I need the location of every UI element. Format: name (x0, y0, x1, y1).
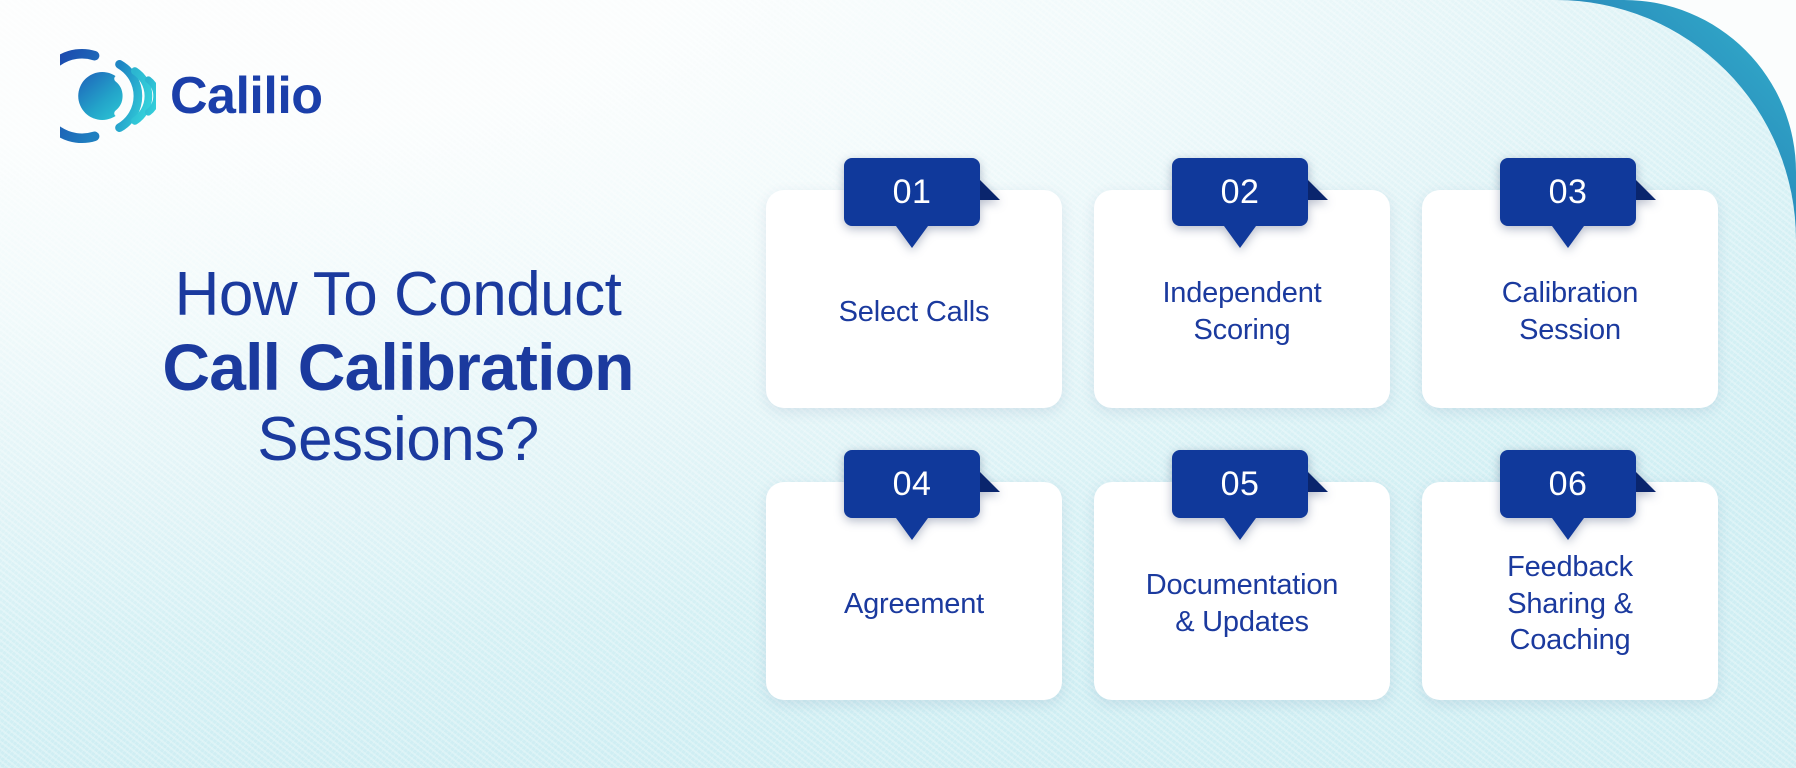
step-card-4[interactable]: Agreement 04 (766, 450, 1062, 668)
step-number-badge: 03 (1500, 158, 1656, 254)
step-card-3[interactable]: Calibration Session 03 (1422, 158, 1718, 376)
step-number: 03 (1500, 158, 1636, 226)
title-line-3: Sessions? (78, 407, 718, 473)
steps-grid: Select Calls 01 Independent Scoring 02 (766, 158, 1726, 668)
step-number: 01 (844, 158, 980, 226)
title-line-2: Call Calibration (78, 332, 718, 403)
step-number-badge: 05 (1172, 450, 1328, 546)
step-card-6[interactable]: Feedback Sharing & Coaching 06 (1422, 450, 1718, 668)
step-label: Feedback Sharing & Coaching (1507, 549, 1633, 659)
brand-wordmark: Calilio (170, 70, 323, 122)
page-title: How To Conduct Call Calibration Sessions… (78, 262, 718, 473)
step-number-badge: 01 (844, 158, 1000, 254)
step-number-badge: 06 (1500, 450, 1656, 546)
step-number: 06 (1500, 450, 1636, 518)
step-label: Select Calls (839, 294, 990, 331)
step-label: Documentation & Updates (1146, 567, 1338, 641)
step-label: Independent Scoring (1162, 275, 1321, 349)
step-number: 05 (1172, 450, 1308, 518)
step-label: Calibration Session (1502, 275, 1638, 349)
title-line-1: How To Conduct (78, 262, 718, 328)
step-label: Agreement (844, 586, 984, 623)
step-card-1[interactable]: Select Calls 01 (766, 158, 1062, 376)
step-card-2[interactable]: Independent Scoring 02 (1094, 158, 1390, 376)
infographic-canvas: Calilio How To Conduct Call Calibration … (0, 0, 1796, 768)
step-number: 04 (844, 450, 980, 518)
step-number: 02 (1172, 158, 1308, 226)
step-number-badge: 04 (844, 450, 1000, 546)
step-card-5[interactable]: Documentation & Updates 05 (1094, 450, 1390, 668)
brand-logo[interactable]: Calilio (60, 48, 323, 144)
step-number-badge: 02 (1172, 158, 1328, 254)
calilio-signal-circle-logo-icon (60, 48, 156, 144)
